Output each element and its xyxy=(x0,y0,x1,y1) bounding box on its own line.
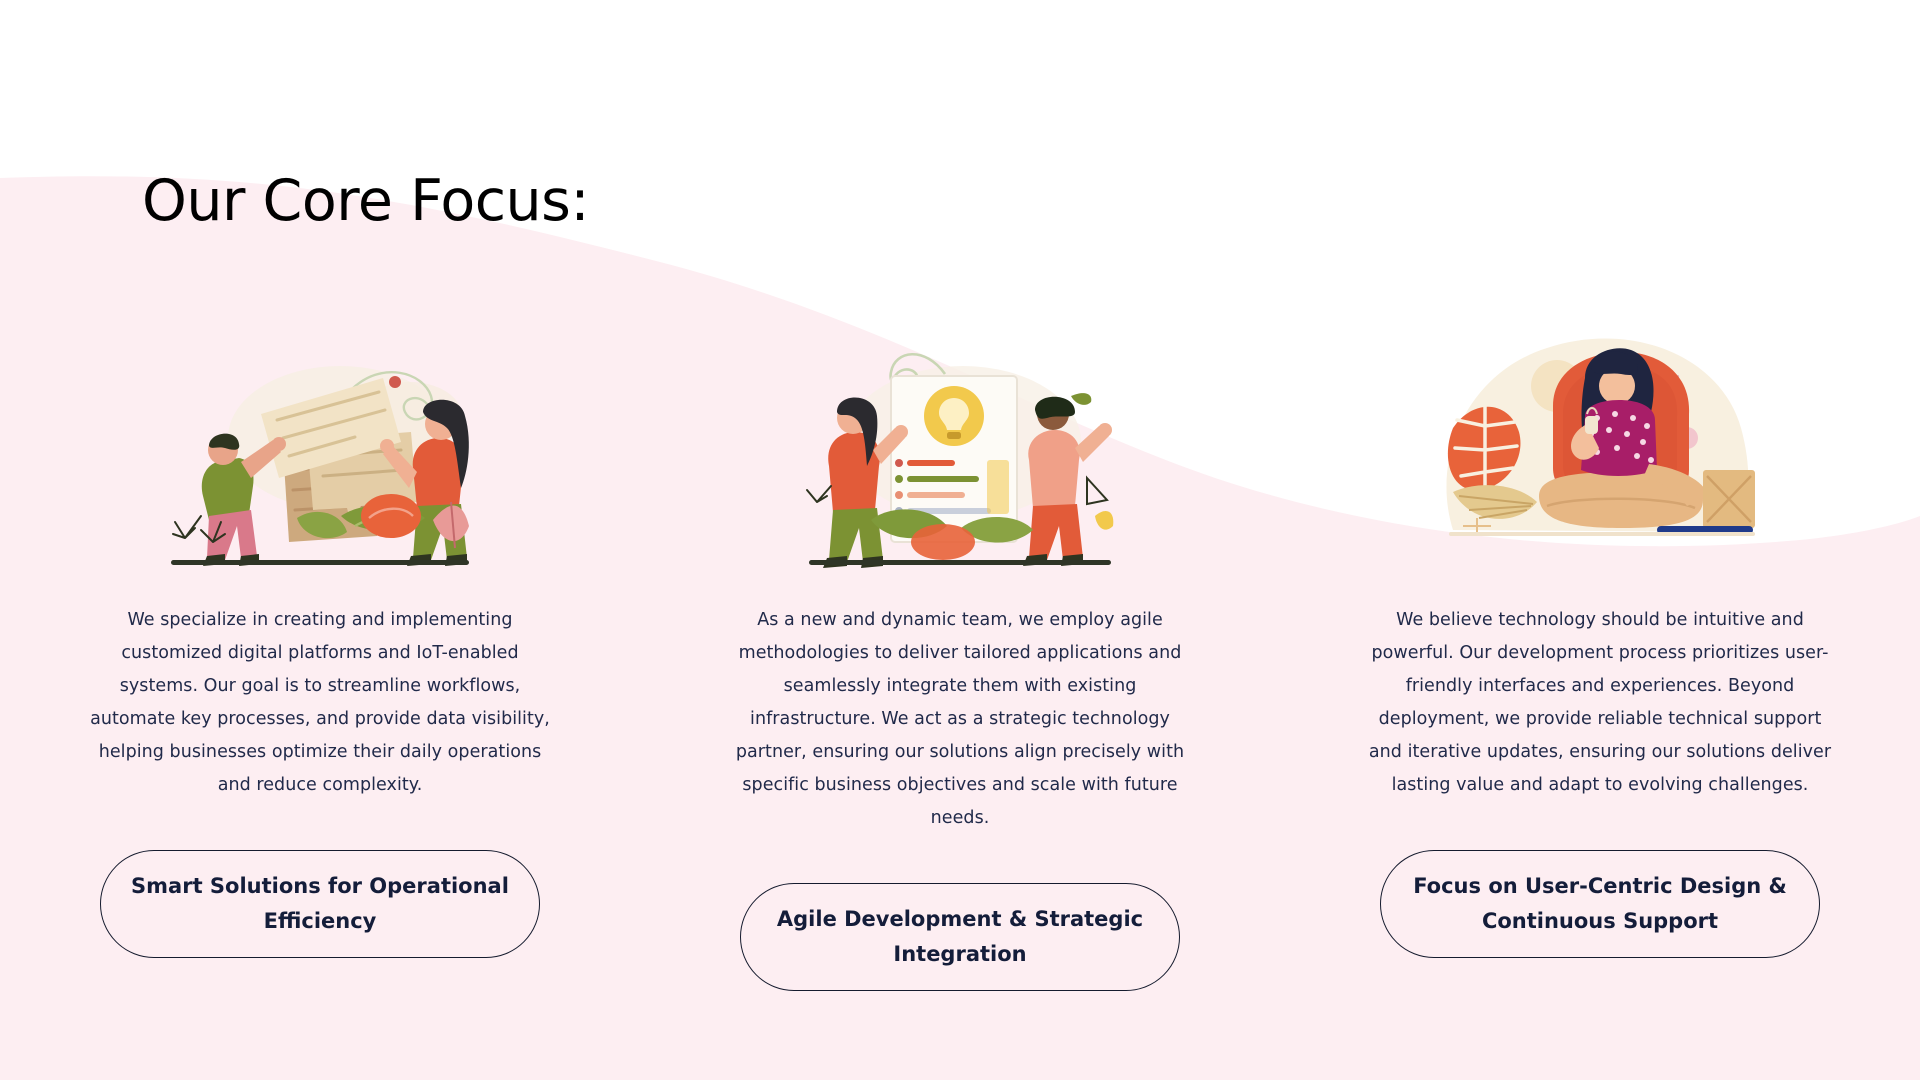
agile-development-button[interactable]: Agile Development & Strategic Integratio… xyxy=(740,883,1180,991)
focus-card-2: As a new and dynamic team, we employ agi… xyxy=(640,300,1280,991)
user-centric-design-button[interactable]: Focus on User-Centric Design & Continuou… xyxy=(1380,850,1820,958)
focus-card-1: We specialize in creating and implementi… xyxy=(0,300,640,991)
page-title: Our Core Focus: xyxy=(142,172,589,232)
landing-page-section: Our Core Focus: xyxy=(0,0,1920,1080)
focus-card-3: We believe technology should be intuitiv… xyxy=(1280,300,1920,991)
focus-card-body: We believe technology should be intuitiv… xyxy=(1365,604,1835,802)
teamwork-documents-illustration xyxy=(110,300,530,570)
focus-card-body: We specialize in creating and implementi… xyxy=(85,604,555,802)
core-focus-columns: We specialize in creating and implementi… xyxy=(0,300,1920,991)
smart-solutions-button[interactable]: Smart Solutions for Operational Efficien… xyxy=(100,850,540,958)
focus-card-body: As a new and dynamic team, we employ agi… xyxy=(725,604,1195,835)
team-presentation-idea-illustration xyxy=(750,300,1170,570)
woman-relaxing-armchair-illustration xyxy=(1390,300,1810,570)
